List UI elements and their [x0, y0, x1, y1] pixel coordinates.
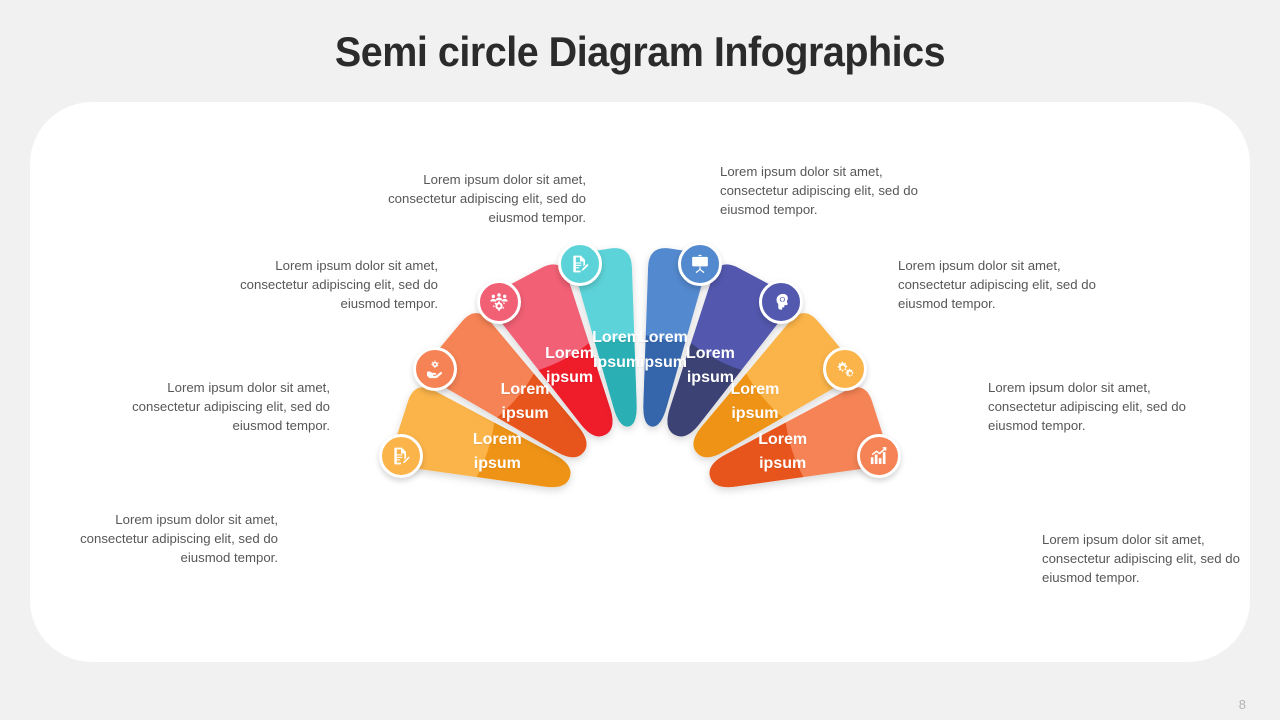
petal-caption: Lorem ipsum dolor sit amet, consectetur … [720, 162, 920, 219]
petal-label: Loremipsum [728, 428, 838, 478]
petal-icon-badge[interactable] [477, 280, 521, 324]
petal-label-text: Loremipsum [730, 381, 779, 423]
petal-icon-badge[interactable] [857, 434, 901, 478]
gears-icon [835, 359, 855, 379]
petal-icon-badge[interactable] [759, 280, 803, 324]
petal-icon-badge[interactable] [678, 242, 722, 286]
presentation-board-icon [690, 254, 710, 274]
document-pen-icon [391, 446, 411, 466]
petal-caption: Lorem ipsum dolor sit amet, consectetur … [78, 510, 278, 567]
head-brain-icon [771, 292, 791, 312]
bar-chart-growth-icon [869, 446, 889, 466]
document-edit-icon [570, 254, 590, 274]
hand-gear-icon [425, 359, 445, 379]
petal-label-text: Loremipsum [758, 431, 807, 473]
petal-caption: Lorem ipsum dolor sit amet, consectetur … [130, 378, 330, 435]
slide-root: Semi circle Diagram Infographics Loremip… [0, 0, 1280, 720]
team-gear-icon [489, 292, 509, 312]
petal-label: Loremipsum [700, 378, 810, 428]
petal-label-text: Loremipsum [473, 431, 522, 473]
petal-caption: Lorem ipsum dolor sit amet, consectetur … [898, 256, 1098, 313]
petal-caption: Lorem ipsum dolor sit amet, consectetur … [1042, 530, 1242, 587]
petal-icon-badge[interactable] [379, 434, 423, 478]
page-title: Semi circle Diagram Infographics [38, 28, 1241, 76]
petal-caption: Lorem ipsum dolor sit amet, consectetur … [238, 256, 438, 313]
petal-caption: Lorem ipsum dolor sit amet, consectetur … [988, 378, 1188, 435]
petal-caption: Lorem ipsum dolor sit amet, consectetur … [386, 170, 586, 227]
petal-label: Loremipsum [442, 428, 552, 478]
page-number: 8 [1239, 697, 1246, 712]
